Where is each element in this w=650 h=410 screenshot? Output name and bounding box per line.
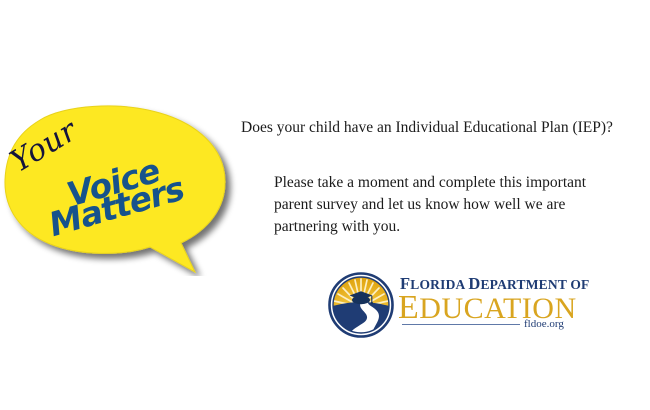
speech-bubble-path <box>5 106 225 272</box>
headline-question: Does your child have an Individual Educa… <box>241 118 613 138</box>
body-copy: Please take a moment and complete this i… <box>274 172 640 238</box>
doe-text-epartment-of: EPARTMENT OF <box>480 277 589 292</box>
body-copy-line-2: parent survey and let us know how well w… <box>274 194 640 216</box>
doe-divider-rule <box>402 324 520 325</box>
body-copy-line-1: Please take a moment and complete this i… <box>274 172 640 194</box>
speech-bubble-graphic: Your Voice Matters <box>2 104 242 276</box>
doe-wordmark: FLORIDA DEPARTMENT OF EDUCATION fldoe.or… <box>400 274 577 336</box>
speech-bubble-shape <box>2 104 242 276</box>
florida-doe-logo: FLORIDA DEPARTMENT OF EDUCATION fldoe.or… <box>327 271 577 343</box>
doe-cap-e: E <box>398 289 419 326</box>
doe-url-fldoe-org: fldoe.org <box>524 318 564 330</box>
body-copy-line-3: partnering with you. <box>274 216 640 238</box>
doe-emblem-icon <box>327 271 395 339</box>
banner-canvas: Your Voice Matters Does your child have … <box>0 0 650 410</box>
